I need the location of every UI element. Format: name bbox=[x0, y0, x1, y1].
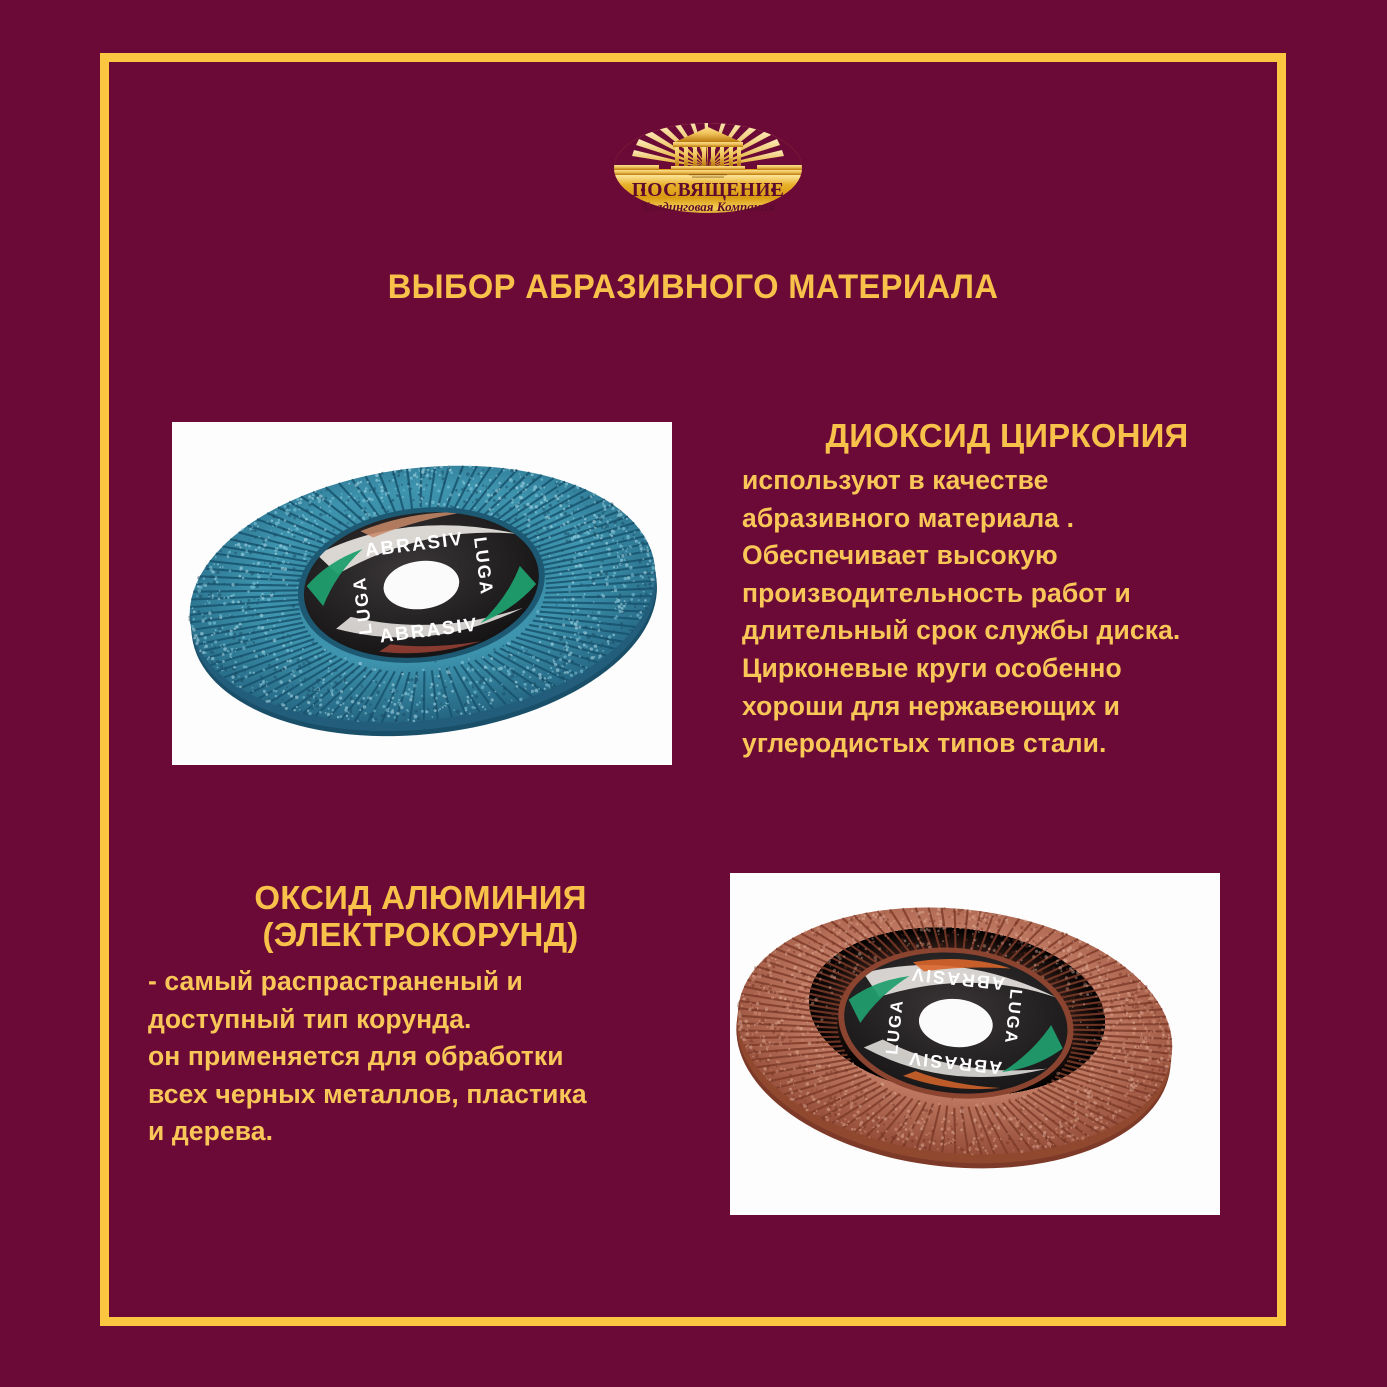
aluminium-oxide-heading: ОКСИД АЛЮМИНИЯ (ЭЛЕКТРОКОРУНД) bbox=[148, 880, 693, 954]
aluminium-oxide-heading-line-2: (ЭЛЕКТРОКОРУНД) bbox=[148, 917, 693, 954]
zirconia-body-line: хороши для нержавеющих и bbox=[742, 688, 1272, 726]
zirconia-disc-illustration: ABRASIV ABRASIV LUGA LUGA bbox=[172, 422, 672, 765]
aluminium-oxide-flap-disc-photo: ABRASIV ABRASIV LUGA LUGA bbox=[730, 873, 1220, 1215]
zirconia-body-line: Цирконевые круги особенно bbox=[742, 650, 1272, 688]
aluminium-oxide-body-line: - самый распрастраненый и bbox=[148, 963, 693, 1001]
zirconia-body-line: длительный срок службы диска. bbox=[742, 612, 1272, 650]
zirconia-body-line: абразивного материала . bbox=[742, 500, 1272, 538]
slide-canvas: ПОСВЯЩЕНИЕ Холдинговая Компания ВЫБОР АБ… bbox=[0, 0, 1387, 1387]
logo-svg: ПОСВЯЩЕНИЕ Холдинговая Компания bbox=[613, 116, 803, 220]
aluminium-oxide-body-line: всех черных металлов, пластика bbox=[148, 1076, 693, 1114]
zirconia-body-line: Обеспечивает высокую bbox=[742, 537, 1272, 575]
zirconia-body: используют в качестве абразивного матери… bbox=[742, 462, 1272, 763]
zirconia-body-line: производительность работ и bbox=[742, 575, 1272, 613]
zirconia-text-block: ДИОКСИД ЦИРКОНИЯ используют в качестве а… bbox=[742, 418, 1272, 763]
aluminium-oxide-body-line: он применяется для обработки bbox=[148, 1038, 693, 1076]
zirconia-heading: ДИОКСИД ЦИРКОНИЯ bbox=[742, 418, 1272, 455]
aluminium-oxide-heading-line-1: ОКСИД АЛЮМИНИЯ bbox=[148, 880, 693, 917]
aluminium-oxide-body: - самый распрастраненый и доступный тип … bbox=[148, 963, 693, 1151]
logo-dot-left bbox=[641, 188, 645, 192]
aluminium-oxide-body-line: доступный тип корунда. bbox=[148, 1001, 693, 1039]
zirconia-body-line: используют в качестве bbox=[742, 462, 1272, 500]
zirconia-body-line: углеродистых типов стали. bbox=[742, 725, 1272, 763]
aluminium-oxide-disc-illustration: ABRASIV ABRASIV LUGA LUGA bbox=[730, 873, 1220, 1215]
logo-company-name: ПОСВЯЩЕНИЕ bbox=[632, 180, 785, 201]
zirconia-flap-disc-photo: ABRASIV ABRASIV LUGA LUGA bbox=[172, 422, 672, 765]
company-logo: ПОСВЯЩЕНИЕ Холдинговая Компания bbox=[613, 116, 803, 220]
logo-tagline: Холдинговая Компания bbox=[640, 199, 775, 214]
logo-dot-right bbox=[771, 188, 775, 192]
aluminium-oxide-body-line: и дерева. bbox=[148, 1113, 693, 1151]
page-title: ВЫБОР АБРАЗИВНОГО МАТЕРИАЛА bbox=[124, 268, 1263, 307]
aluminium-oxide-text-block: ОКСИД АЛЮМИНИЯ (ЭЛЕКТРОКОРУНД) - самый р… bbox=[148, 880, 693, 1151]
